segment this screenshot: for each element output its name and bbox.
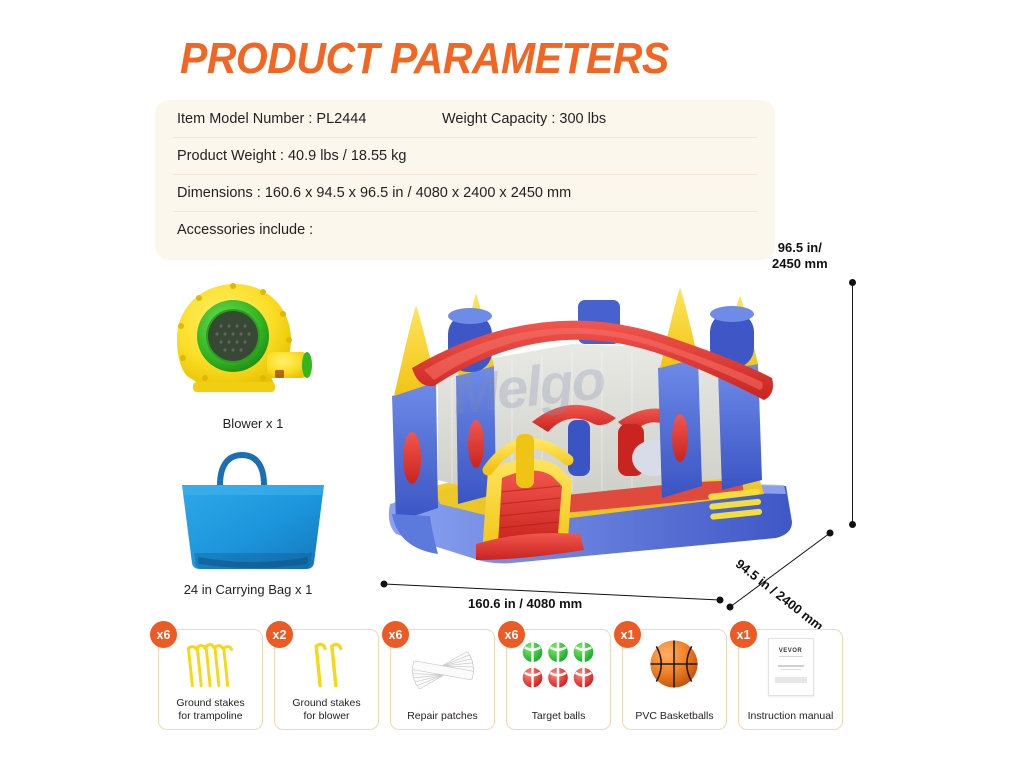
target-balls-icon	[507, 636, 610, 692]
blower-icon	[163, 278, 343, 413]
accessory-label: Ground stakes for trampoline	[159, 697, 262, 723]
spec-dimensions: Dimensions : 160.6 x 94.5 x 96.5 in / 40…	[177, 185, 571, 201]
accessory-card-target-balls[interactable]: x6	[506, 629, 611, 730]
page-title: PRODUCT PARAMETERS	[180, 34, 669, 84]
spec-product-weight: Product Weight : 40.9 lbs / 18.55 kg	[177, 148, 406, 164]
carrying-bag-product: 24 in Carrying Bag x 1	[168, 445, 338, 575]
accessory-label: Target balls	[507, 710, 610, 723]
carrying-bag-caption: 24 in Carrying Bag x 1	[163, 582, 333, 597]
blower-product: Blower x 1	[163, 278, 343, 413]
accessory-count-badge: x2	[266, 621, 293, 648]
accessory-card-repair-patches[interactable]: x6 Repair patches	[390, 629, 495, 730]
accessories-row: x6 Ground stakes for trampoline x2	[158, 629, 888, 734]
blower-caption: Blower x 1	[163, 416, 343, 431]
accessory-label: Instruction manual	[739, 710, 842, 723]
manual-brand: VEVOR	[769, 648, 813, 654]
accessory-card-ground-stakes-trampoline[interactable]: x6 Ground stakes for trampoline	[158, 629, 263, 730]
height-dimension-label: 96.5 in/ 2450 mm	[772, 240, 828, 273]
height-line-dot-top	[849, 279, 856, 286]
accessory-card-pvc-basketballs[interactable]: x1 PVC Basketballs	[622, 629, 727, 730]
accessory-label: PVC Basketballs	[623, 710, 726, 723]
accessory-card-instruction-manual[interactable]: x1 VEVOR Instruction manual	[738, 629, 843, 730]
ground-stakes-icon	[159, 636, 262, 692]
spec-row: Product Weight : 40.9 lbs / 18.55 kg	[155, 137, 775, 174]
accessory-label: Ground stakes for blower	[275, 697, 378, 723]
accessory-count-badge: x6	[382, 621, 409, 648]
repair-patches-icon	[391, 636, 494, 692]
accessory-count-badge: x6	[150, 621, 177, 648]
height-line-dot-bottom	[849, 521, 856, 528]
carrying-bag-icon	[168, 445, 338, 575]
spec-row: Accessories include :	[155, 211, 775, 248]
spec-row: Dimensions : 160.6 x 94.5 x 96.5 in / 40…	[155, 174, 775, 211]
spec-accessories-include: Accessories include :	[177, 222, 313, 238]
accessory-label: Repair patches	[391, 710, 494, 723]
manual-icon: VEVOR	[739, 636, 842, 692]
spec-weight-capacity: Weight Capacity : 300 lbs	[442, 111, 606, 127]
ground-stakes-blower-icon	[275, 636, 378, 692]
product-parameters-page: PRODUCT PARAMETERS Item Model Number : P…	[0, 0, 1024, 768]
accessory-count-badge: x1	[614, 621, 641, 648]
spec-panel: Item Model Number : PL2444 Weight Capaci…	[155, 100, 775, 260]
spec-row: Item Model Number : PL2444 Weight Capaci…	[155, 100, 775, 137]
spec-model-number: Item Model Number : PL2444	[177, 111, 442, 127]
accessory-count-badge: x6	[498, 621, 525, 648]
accessory-count-badge: x1	[730, 621, 757, 648]
accessory-card-ground-stakes-blower[interactable]: x2 Ground stakes for blower	[274, 629, 379, 730]
basketball-icon	[623, 636, 726, 692]
width-dimension-label: 160.6 in / 4080 mm	[468, 596, 582, 612]
height-dimension-line	[852, 282, 853, 525]
